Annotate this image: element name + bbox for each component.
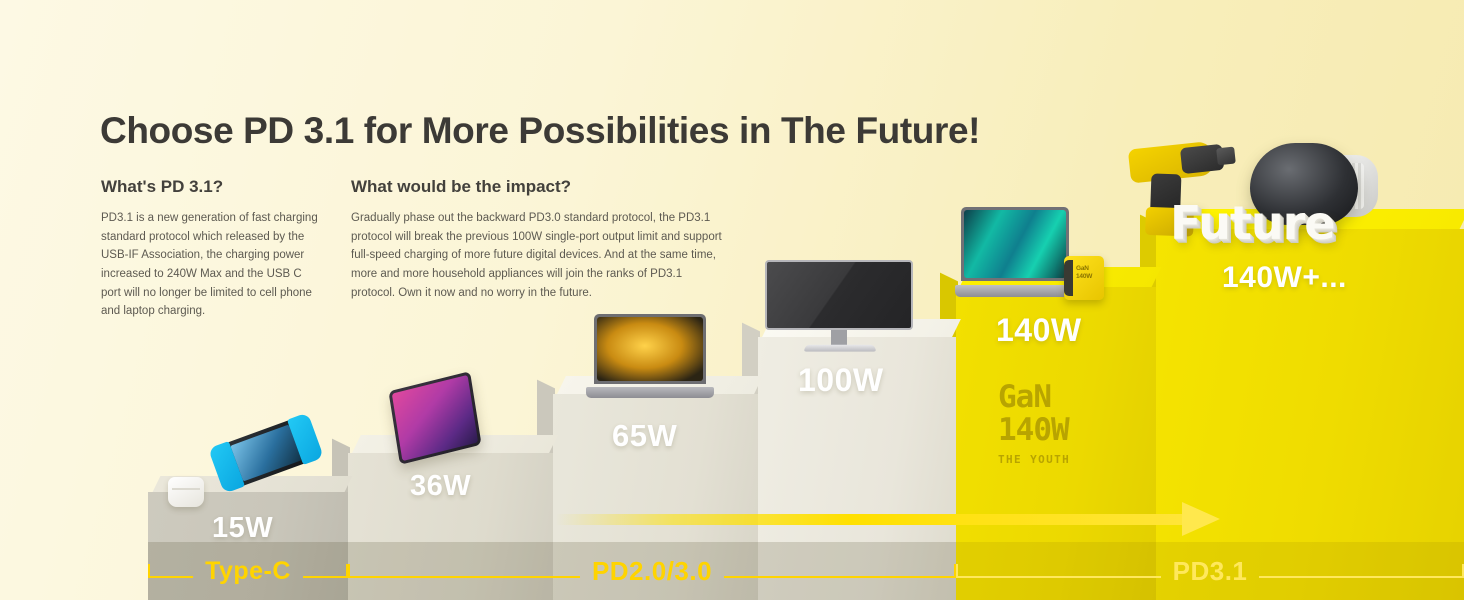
bracket-right-icon — [1259, 564, 1464, 578]
monitor-icon — [765, 260, 913, 352]
infographic-canvas: Choose PD 3.1 for More Possibilities in … — [0, 0, 1464, 600]
gan-charger-icon: GaN 140W — [1064, 256, 1104, 300]
group-label-pd31: PD3.1 — [956, 542, 1464, 600]
step-label-future: 140W+... — [1222, 261, 1347, 295]
laptop-lid — [594, 314, 706, 384]
step-label-36w: 36W — [410, 470, 471, 503]
monitor-screen — [765, 260, 913, 330]
group-label-pd20-30: PD2.0/3.0 — [348, 542, 956, 600]
page-title: Choose PD 3.1 for More Possibilities in … — [100, 110, 980, 152]
bracket-left-icon — [956, 564, 1161, 578]
group-label-text: PD2.0/3.0 — [592, 556, 712, 587]
bracket-left-icon — [348, 564, 580, 578]
laptop-140w-icon — [955, 207, 1075, 297]
step-label-65w: 65W — [612, 418, 677, 454]
bracket-left-icon — [148, 564, 193, 578]
bracket-right-icon — [724, 564, 956, 578]
section-body-what-is-pd31: PD3.1 is a new generation of fast chargi… — [101, 209, 323, 321]
charger-mini-label: GaN 140W — [1076, 265, 1092, 281]
section-heading-what-is-pd31: What's PD 3.1? — [101, 177, 223, 197]
gan-branding: GaN 140W THE YOUTH — [998, 382, 1070, 465]
earbuds-case-icon — [168, 477, 204, 507]
step-label-140w: 140W — [996, 312, 1082, 349]
laptop-base — [955, 285, 1075, 297]
arrow-shaft — [556, 514, 1196, 525]
group-label-type-c: Type-C — [148, 542, 348, 600]
arrow-head-icon — [1182, 502, 1220, 536]
section-body-impact: Gradually phase out the backward PD3.0 s… — [351, 209, 723, 302]
group-label-text: Type-C — [205, 557, 291, 586]
monitor-stand-base — [803, 345, 877, 352]
charger-port-strip — [1064, 260, 1073, 296]
step-label-100w: 100W — [798, 362, 884, 399]
gan-brand-tagline: THE YOUTH — [998, 454, 1070, 465]
gan-brand-watt: 140W — [998, 415, 1070, 446]
laptop-lid — [961, 207, 1069, 281]
gan-brand-name: GaN — [998, 382, 1070, 413]
laptop-65w-icon — [586, 314, 714, 398]
laptop-base — [586, 387, 714, 398]
section-heading-impact: What would be the impact? — [351, 177, 571, 197]
future-word-3d: Future — [1170, 196, 1335, 250]
step-label-15w: 15W — [212, 512, 273, 545]
drill-chuck — [1216, 147, 1236, 166]
monitor-stand-neck — [831, 330, 847, 346]
group-label-text: PD3.1 — [1173, 556, 1248, 587]
bracket-right-icon — [303, 564, 348, 578]
progress-arrow — [556, 502, 1262, 536]
